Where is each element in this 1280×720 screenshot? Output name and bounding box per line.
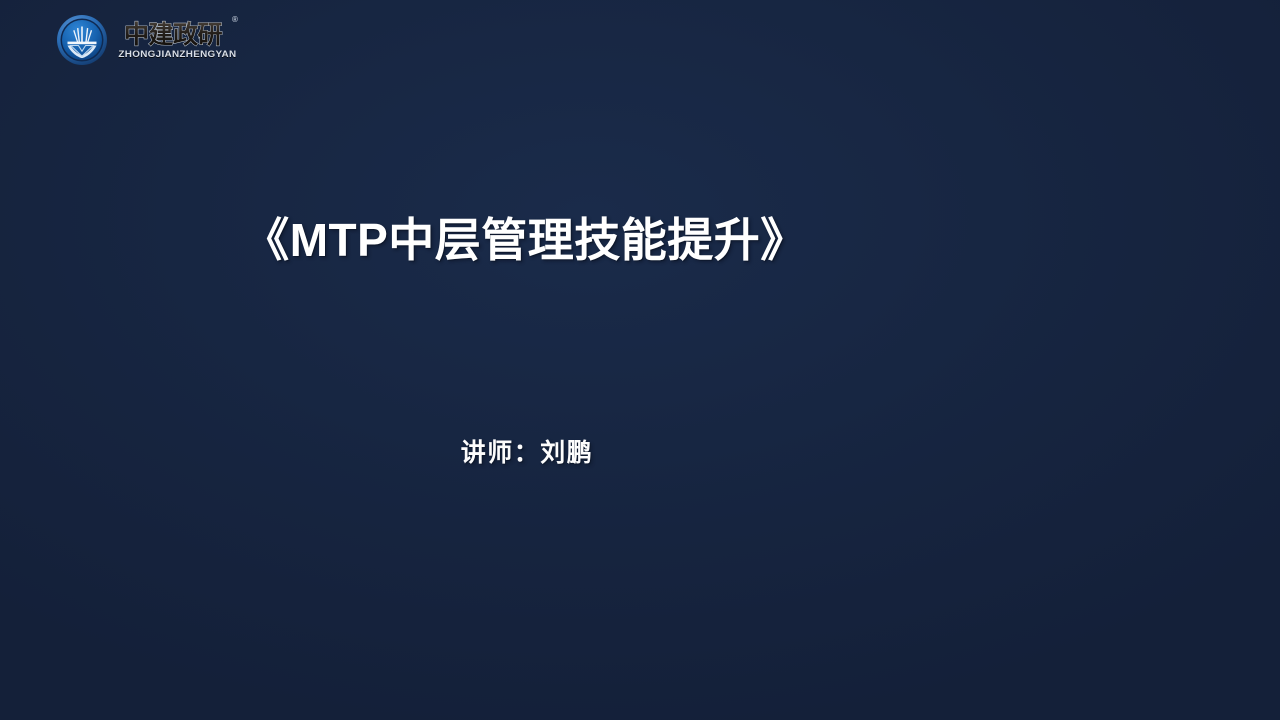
svg-text:中建政研: 中建政研 <box>124 20 223 49</box>
presentation-slide: 中建政研 ZHONGJIANZHENGYAN ® 《MTP中层管理技能提升》 讲… <box>0 0 1280 720</box>
logo-wordmark: 中建政研 ZHONGJIANZHENGYAN ® <box>114 14 240 66</box>
company-bridge-emblem-icon <box>56 14 108 66</box>
registered-trademark-icon: ® <box>232 16 238 24</box>
slide-title: 《MTP中层管理技能提升》 <box>0 207 1050 273</box>
logo-pinyin-text: ZHONGJIANZHENGYAN <box>114 49 241 60</box>
logo-hanzi-text: 中建政研 <box>114 19 232 49</box>
company-logo: 中建政研 ZHONGJIANZHENGYAN ® <box>56 13 242 67</box>
slide-presenter-line: 讲师：刘鹏 <box>0 434 1054 472</box>
